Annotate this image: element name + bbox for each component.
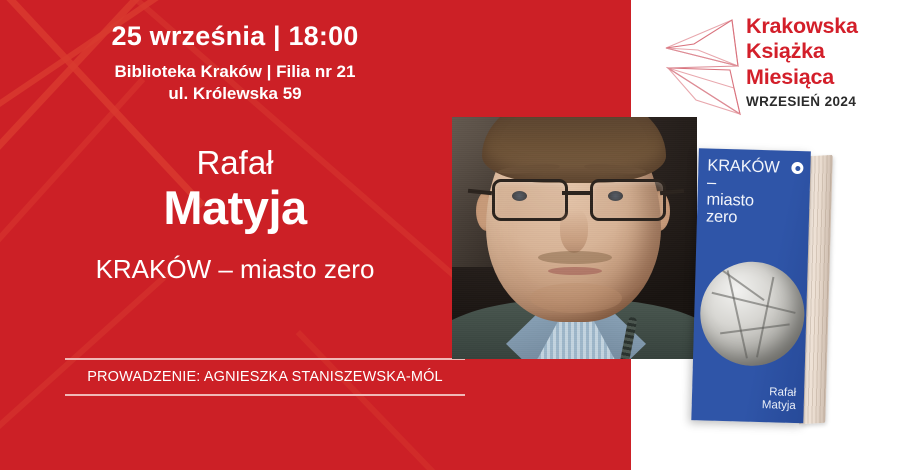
event-venue-line-2: ul. Królewska 59 bbox=[0, 83, 470, 106]
book-cover-author-line-2: Matyja bbox=[762, 400, 796, 415]
host-name: PROWADZENIE: AGNIESZKA STANISZEWSKA-MÓL bbox=[65, 360, 465, 394]
sphere-crease bbox=[720, 323, 790, 334]
event-header: 25 września | 18:00 Biblioteka Kraków | … bbox=[0, 22, 470, 106]
krakowska-ksiazka-miesiaca-monogram-icon bbox=[660, 14, 748, 120]
book-cover-author-line-1: Rafał bbox=[762, 386, 796, 401]
logo-month-year: WRZESIEŃ 2024 bbox=[746, 94, 856, 109]
book-cover-title-line-1: KRAKÓW – bbox=[707, 156, 780, 191]
sphere-crease bbox=[756, 277, 774, 358]
author-last-name: Matyja bbox=[0, 182, 470, 235]
event-poster: 25 września | 18:00 Biblioteka Kraków | … bbox=[0, 0, 900, 470]
publisher-mark-icon bbox=[791, 162, 803, 174]
book-mockup: KRAKÓW – miasto zero Rafał Matyja bbox=[691, 148, 829, 430]
event-datetime: 25 września | 18:00 bbox=[0, 22, 470, 52]
logo-line-3: Miesiąca bbox=[746, 65, 896, 90]
author-block: Rafał Matyja KRAKÓW – miasto zero bbox=[0, 146, 470, 282]
author-first-name: Rafał bbox=[0, 146, 470, 179]
book-cover-title-line-2: miasto zero bbox=[706, 192, 788, 229]
series-logo-words: Krakowska Książka Miesiąca bbox=[746, 14, 896, 90]
book-cover-title: KRAKÓW – miasto zero bbox=[706, 157, 789, 228]
sphere-crease bbox=[727, 270, 748, 358]
book-front-cover: KRAKÓW – miasto zero Rafał Matyja bbox=[691, 148, 811, 423]
book-cover-author: Rafał Matyja bbox=[762, 386, 797, 414]
author-portrait-photo bbox=[452, 117, 697, 359]
logo-line-2: Książka bbox=[746, 39, 896, 64]
sphere-crease bbox=[712, 292, 796, 314]
series-logo: Krakowska Książka Miesiąca WRZESIEŃ 2024 bbox=[660, 12, 892, 120]
host-rule-bottom bbox=[65, 394, 465, 396]
host-block: PROWADZENIE: AGNIESZKA STANISZEWSKA-MÓL bbox=[65, 358, 465, 396]
decorative-diagonal-line bbox=[0, 269, 172, 434]
book-cover-sphere-image bbox=[699, 260, 806, 367]
event-venue-line-1: Biblioteka Kraków | Filia nr 21 bbox=[0, 61, 470, 84]
logo-line-1: Krakowska bbox=[746, 14, 896, 39]
book-title: KRAKÓW – miasto zero bbox=[0, 256, 470, 282]
portrait-grain-overlay bbox=[452, 117, 697, 359]
